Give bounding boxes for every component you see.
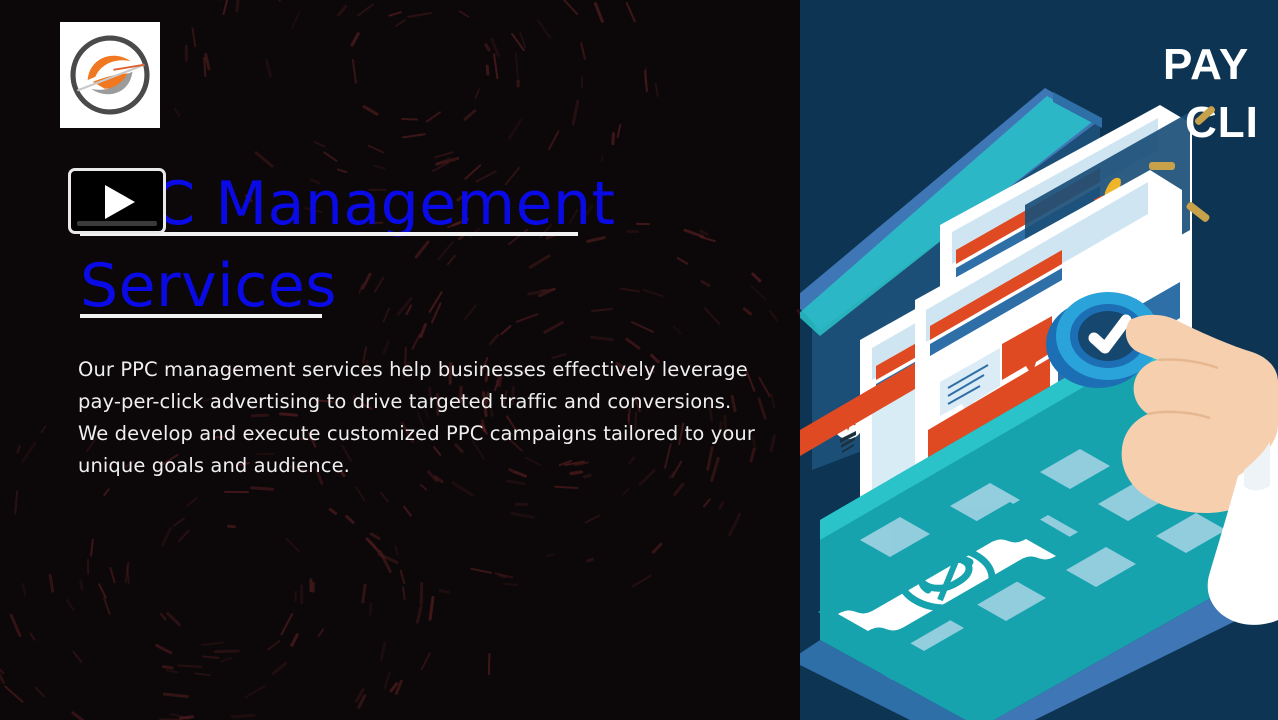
decorative-dash <box>165 669 178 674</box>
decorative-dash <box>515 502 528 505</box>
decorative-dash <box>124 560 129 582</box>
decorative-dash <box>395 680 403 696</box>
title-underline-2 <box>80 314 322 318</box>
decorative-dash <box>590 336 614 341</box>
decorative-dash <box>3 685 23 703</box>
decorative-dash <box>301 585 304 605</box>
decorative-dash <box>186 497 198 508</box>
video-player-overlay[interactable] <box>68 168 166 234</box>
decorative-dash <box>420 652 431 670</box>
decorative-dash <box>490 37 500 57</box>
presentation-slide: PPC Management Services Our PPC manageme… <box>0 0 1278 720</box>
decorative-dash <box>201 641 225 645</box>
decorative-dash <box>264 59 271 78</box>
decorative-dash <box>586 557 595 562</box>
decorative-dash <box>280 613 294 636</box>
decorative-dash <box>560 0 579 15</box>
decorative-dash <box>488 333 499 345</box>
decorative-dash <box>572 99 580 125</box>
decorative-dash <box>401 117 418 120</box>
decorative-dash <box>323 151 338 162</box>
decorative-dash <box>486 64 490 76</box>
decorative-dash <box>370 540 377 549</box>
decorative-dash <box>719 501 725 510</box>
decorative-dash <box>416 605 423 624</box>
decorative-dash <box>191 27 197 47</box>
decorative-dash <box>317 629 324 638</box>
decorative-dash <box>337 4 348 17</box>
decorative-dash <box>350 32 360 47</box>
decorative-dash <box>616 124 621 138</box>
decorative-dash <box>231 714 256 718</box>
decorative-dash <box>369 532 381 540</box>
decorative-dash <box>511 32 525 51</box>
decorative-dash <box>420 582 423 605</box>
decorative-dash <box>195 672 211 676</box>
decorative-dash <box>581 77 583 89</box>
decorative-dash <box>271 661 288 675</box>
decorative-dash <box>426 111 441 122</box>
title-line-1: PPC Management <box>80 163 780 245</box>
decorative-dash <box>388 11 402 17</box>
decorative-dash <box>34 687 45 698</box>
decorative-dash <box>365 537 380 553</box>
right-illustration-panel <box>800 0 1278 720</box>
decorative-dash <box>351 58 357 83</box>
decorative-dash <box>222 0 228 15</box>
decorative-dash <box>40 424 47 433</box>
decorative-dash <box>439 588 451 593</box>
decorative-dash <box>361 583 367 603</box>
decorative-dash <box>290 11 300 30</box>
decorative-dash <box>407 12 432 18</box>
decorative-dash <box>625 337 641 349</box>
decorative-dash <box>220 0 229 1</box>
decorative-dash <box>178 530 190 543</box>
decorative-dash <box>458 10 469 18</box>
decorative-dash <box>161 665 173 670</box>
decorative-dash <box>244 685 266 699</box>
decorative-dash <box>103 597 111 616</box>
decorative-dash <box>400 570 406 585</box>
decorative-dash <box>758 377 771 398</box>
decorative-dash <box>488 653 491 675</box>
decorative-dash <box>48 574 54 593</box>
decorative-dash <box>16 444 21 453</box>
decorative-dash <box>204 53 211 72</box>
decorative-dash <box>402 586 406 600</box>
decorative-dash <box>163 693 189 698</box>
decorative-dash <box>267 639 281 650</box>
decorative-dash <box>294 590 297 601</box>
decorative-dash <box>355 688 365 703</box>
decorative-dash <box>651 543 663 555</box>
decorative-dash <box>357 694 367 709</box>
decorative-dash <box>15 490 19 514</box>
play-icon[interactable] <box>105 185 135 219</box>
body-line-1: Our PPC management services help busines… <box>78 354 728 386</box>
decorative-dash <box>498 574 507 579</box>
slide-body-text: Our PPC management services help busines… <box>78 354 728 482</box>
decorative-dash <box>9 613 21 637</box>
decorative-dash <box>548 130 560 150</box>
decorative-dash <box>379 492 389 503</box>
decorative-dash <box>494 572 513 579</box>
decorative-dash <box>178 715 193 720</box>
decorative-dash <box>611 132 614 145</box>
body-line-3: We develop and execute customized PPC ca… <box>78 418 728 450</box>
decorative-dash <box>484 43 491 52</box>
decorative-dash <box>344 514 355 524</box>
decorative-dash <box>503 582 518 586</box>
decorative-dash <box>173 107 180 117</box>
decorative-dash <box>402 133 426 138</box>
decorative-dash <box>644 67 647 84</box>
decorative-dash <box>224 491 249 493</box>
decorative-dash <box>493 53 498 79</box>
title-line-2-text: Services <box>80 251 337 321</box>
decorative-dash <box>278 0 286 2</box>
decorative-dash <box>420 484 428 491</box>
decorative-dash <box>310 578 313 592</box>
decorative-dash <box>29 633 35 642</box>
decorative-dash <box>109 566 116 583</box>
decorative-dash <box>545 553 555 557</box>
decorative-dash <box>354 486 365 502</box>
decorative-dash <box>369 602 372 615</box>
decorative-dash <box>536 18 552 39</box>
decorative-dash <box>394 545 399 556</box>
slide-title: PPC Management Services <box>80 163 780 327</box>
decorative-dash <box>166 612 181 627</box>
decorative-dash <box>126 565 130 584</box>
decorative-dash <box>185 45 188 62</box>
decorative-dash <box>376 552 398 564</box>
decorative-dash <box>389 682 398 693</box>
decorative-dash <box>515 52 519 78</box>
ppc-isometric-illustration <box>800 0 1278 720</box>
decorative-dash <box>214 649 240 652</box>
decorative-dash <box>463 109 477 121</box>
decorative-dash <box>771 393 776 409</box>
decorative-dash <box>509 512 534 519</box>
decorative-dash <box>357 3 375 17</box>
decorative-dash <box>22 583 27 597</box>
video-progress-bar[interactable] <box>77 221 157 226</box>
decorative-dash <box>235 0 240 12</box>
decorative-dash <box>290 633 299 648</box>
decorative-dash <box>170 712 190 719</box>
decorative-dash <box>98 583 107 599</box>
decorative-dash <box>328 507 338 515</box>
decorative-dash <box>673 483 685 497</box>
decorative-dash <box>451 481 474 497</box>
decorative-dash <box>519 31 527 48</box>
decorative-dash <box>87 559 89 575</box>
decorative-dash <box>227 524 236 527</box>
decorative-dash <box>625 2 635 22</box>
decorative-dash <box>580 42 586 60</box>
decorative-dash <box>473 88 480 100</box>
title-line-2: Services <box>80 245 780 327</box>
decorative-dash <box>403 505 412 516</box>
decorative-dash <box>285 537 300 552</box>
decorative-dash <box>161 527 173 547</box>
decorative-dash <box>380 641 387 661</box>
decorative-dash <box>702 498 711 508</box>
decorative-dash <box>313 141 326 148</box>
decorative-dash <box>594 2 605 23</box>
decorative-dash <box>89 539 93 557</box>
decorative-dash <box>434 151 454 158</box>
decorative-dash <box>0 664 4 675</box>
decorative-dash <box>728 513 742 537</box>
decorative-dash <box>367 144 384 154</box>
decorative-dash <box>362 105 379 116</box>
decorative-dash <box>103 488 111 497</box>
decorative-dash <box>621 488 629 496</box>
decorative-dash <box>769 434 776 452</box>
body-line-2: pay-per-click advertising to drive targe… <box>78 386 728 418</box>
decorative-dash <box>203 57 206 77</box>
decorative-dash <box>312 582 315 593</box>
decorative-dash <box>584 514 600 524</box>
decorative-dash <box>65 598 74 611</box>
logo-mark-icon <box>67 32 153 118</box>
decorative-dash <box>429 596 435 621</box>
decorative-dash <box>378 550 392 573</box>
decorative-dash <box>730 394 736 412</box>
decorative-dash <box>71 711 92 720</box>
decorative-dash <box>173 517 186 527</box>
decorative-dash <box>758 397 767 419</box>
decorative-dash <box>203 655 220 659</box>
left-content-panel: PPC Management Services Our PPC manageme… <box>0 0 800 720</box>
decorative-dash <box>554 485 578 489</box>
decorative-dash <box>749 447 755 463</box>
company-logo <box>60 22 160 128</box>
decorative-dash <box>250 486 274 490</box>
decorative-dash <box>631 575 652 589</box>
decorative-dash <box>507 118 522 140</box>
decorative-dash <box>655 83 659 97</box>
decorative-dash <box>600 154 604 163</box>
body-line-4: unique goals and audience. <box>78 450 728 482</box>
decorative-dash <box>20 441 36 463</box>
decorative-dash <box>383 671 391 689</box>
decorative-dash <box>470 567 492 573</box>
decorative-dash <box>0 662 5 684</box>
decorative-dash <box>154 644 172 655</box>
decorative-dash <box>79 580 84 591</box>
decorative-dash <box>644 70 648 92</box>
decorative-dash <box>394 19 406 28</box>
decorative-dash <box>177 664 202 668</box>
decorative-dash <box>159 613 166 621</box>
decorative-dash <box>72 650 83 663</box>
decorative-dash <box>516 79 519 87</box>
decorative-dash <box>220 657 233 663</box>
decorative-dash <box>411 334 421 351</box>
